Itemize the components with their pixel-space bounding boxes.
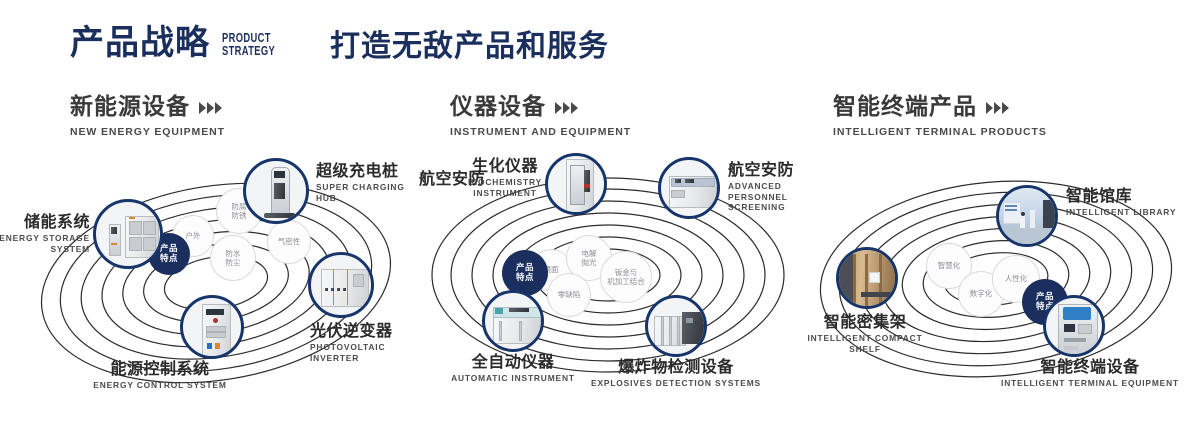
page-title-cn: 产品战略 xyxy=(70,26,210,60)
chevron-right-icon xyxy=(986,102,1009,114)
compact-shelving-icon xyxy=(839,250,895,306)
section-header-new-energy: 新能源设备 NEW ENERGY EQUIPMENT xyxy=(70,96,225,138)
feature-bubble: 零缺陷 xyxy=(547,273,591,317)
node-label-energy-storage-system: 储能系统 ENERGY STORAGE SYSTEM xyxy=(0,213,90,254)
pv-inverter-cabinet-icon xyxy=(311,255,371,315)
section-title-cn: 新能源设备 xyxy=(70,96,190,119)
node-intelligent-terminal-equipment[interactable] xyxy=(1043,295,1105,357)
page-title-en-line1: PRODUCT xyxy=(222,31,308,44)
control-cabinet-icon xyxy=(183,298,241,356)
node-label-photovoltaic-inverter: 光伏逆变器 PHOTOVOLTAIC INVERTER xyxy=(310,322,420,363)
explosives-detector-icon xyxy=(648,298,704,354)
smart-library-room-icon xyxy=(999,188,1055,244)
page-slogan: 打造无敌产品和服务 xyxy=(330,30,609,63)
section-title-en: NEW ENERGY EQUIPMENT xyxy=(70,126,225,138)
self-service-kiosk-icon xyxy=(1046,298,1102,354)
cluster-instrument: 镜面 电解 抛光 钣金与 机加工结合 零缺陷 产品 特点 航空安防 xyxy=(410,155,810,405)
node-energy-control-system[interactable] xyxy=(180,295,244,359)
page-title-en: PRODUCT STRATEGY xyxy=(222,31,308,61)
section-header-intelligent-terminal: 智能终端产品 INTELLIGENT TERMINAL PRODUCTS xyxy=(833,96,1047,138)
node-photovoltaic-inverter[interactable] xyxy=(308,252,374,318)
node-label-intelligent-compact-shelf: 智能密集架 INTELLIGENT COMPACT SHELF xyxy=(795,313,935,354)
cluster-intelligent-terminal: 智慧化 数字化 人性化 产品 特点 xyxy=(800,155,1200,405)
section-header-instrument: 仪器设备 INSTRUMENT AND EQUIPMENT xyxy=(450,96,631,138)
section-title-en: INSTRUMENT AND EQUIPMENT xyxy=(450,126,631,138)
node-label-explosives-detection-systems: 爆炸物检测设备 EXPLOSIVES DETECTION SYSTEMS xyxy=(586,358,766,389)
cluster-new-energy: 户外 防腐 防锈 气密性 防水 防尘 产品 特点 xyxy=(20,155,420,405)
energy-storage-cabinet-icon xyxy=(96,202,160,266)
chevron-right-icon xyxy=(555,102,578,114)
node-label-automatic-instrument: 全自动仪器 AUTOMATIC INSTRUMENT xyxy=(433,353,593,384)
core-badge: 产品 特点 xyxy=(502,250,548,296)
feature-bubble: 气密性 xyxy=(267,220,311,264)
node-explosives-detection-systems[interactable] xyxy=(645,295,707,357)
section-title-cn: 智能终端产品 xyxy=(833,96,977,119)
node-label-intelligent-library: 智能馆库 INTELLIGENT LIBRARY xyxy=(1066,187,1176,218)
section-title-en: INTELLIGENT TERMINAL PRODUCTS xyxy=(833,126,1047,138)
screening-machine-icon xyxy=(661,160,717,216)
node-label-intelligent-terminal-equipment: 智能终端设备 INTELLIGENT TERMINAL EQUIPMENT xyxy=(995,358,1185,389)
node-automatic-instrument[interactable] xyxy=(482,290,544,352)
feature-bubble: 钣金与 机加工结合 xyxy=(600,251,652,303)
page-title-en-line2: STRATEGY xyxy=(222,44,308,57)
ev-charging-pile-icon xyxy=(246,161,306,221)
node-energy-storage-system[interactable] xyxy=(93,199,163,269)
node-intelligent-compact-shelf[interactable] xyxy=(836,247,898,309)
feature-bubble: 防水 防尘 xyxy=(210,235,256,281)
node-intelligent-library[interactable] xyxy=(996,185,1058,247)
chevron-right-icon xyxy=(199,102,222,114)
automatic-instrument-icon xyxy=(485,293,541,349)
poster-canvas: 产品战略 PRODUCT STRATEGY 打造无敌产品和服务 新能源设备 NE… xyxy=(0,0,1200,422)
node-label-biochemistry-instrument: 生化仪器 BIOCHEMISTRY INSTRUMENT xyxy=(445,157,565,198)
section-title-cn: 仪器设备 xyxy=(450,96,546,119)
node-label-energy-control-system: 能源控制系统 ENERGY CONTROL SYSTEM xyxy=(60,360,260,391)
page-title: 产品战略 PRODUCT STRATEGY xyxy=(70,26,342,60)
node-super-charging-hub[interactable] xyxy=(243,158,309,224)
node-advanced-personnel-screening[interactable] xyxy=(658,157,720,219)
